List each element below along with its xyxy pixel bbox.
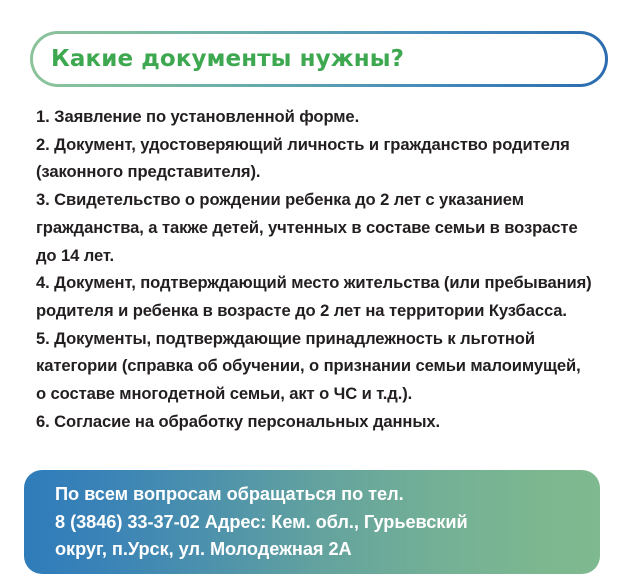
list-item: 4. Документ, подтверждающий место житель… [36, 269, 592, 324]
contact-line-intro: По всем вопросам обращаться по тел. [55, 481, 600, 509]
slide-root: Какие документы нужны? 1. Заявление по у… [0, 0, 621, 585]
list-item: 6. Согласие на обработку персональных да… [36, 408, 592, 436]
documents-list: 1. Заявление по установленной форме. 2. … [36, 103, 592, 435]
list-item: 3. Свидетельство о рождении ребенка до 2… [36, 186, 592, 269]
list-item: 1. Заявление по установленной форме. [36, 103, 592, 131]
list-item: 2. Документ, удостоверяющий личность и г… [36, 131, 592, 186]
contact-line-phone: 8 (3846) 33-37-02 Адрес: Кем. обл., Гурь… [55, 509, 600, 537]
header-pill: Какие документы нужны? [30, 31, 608, 87]
page-title: Какие документы нужны? [51, 46, 404, 72]
contact-banner: По всем вопросам обращаться по тел. 8 (3… [24, 470, 600, 574]
list-item: 5. Документы, подтверждающие принадлежно… [36, 325, 592, 408]
contact-line-address: округ, п.Урск, ул. Молодежная 2А [55, 536, 600, 564]
